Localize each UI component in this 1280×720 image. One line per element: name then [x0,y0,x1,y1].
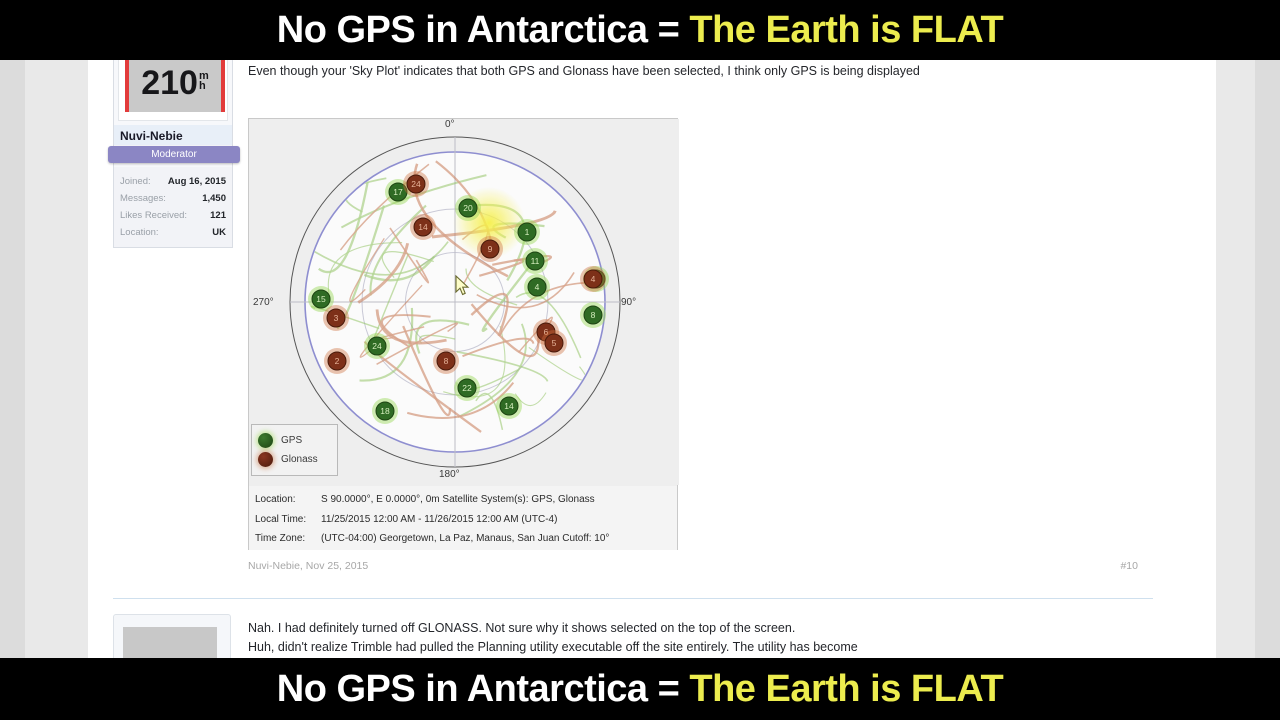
info-key: Local Time: [255,510,321,530]
banner-white-text: No GPS in Antarctica = [277,9,680,51]
info-value: (UTC-04:00) Georgetown, La Paz, Manaus, … [321,529,609,549]
svg-text:14: 14 [504,401,514,411]
legend-label: Glonass [281,454,318,465]
axis-label-north: 0° [445,119,455,130]
info-row-time-zone: Time Zone: (UTC-04:00) Georgetown, La Pa… [255,529,671,549]
avatar-speed-number: 210 [141,66,198,100]
stat-row: Likes Received: 121 [120,207,226,224]
glonass-marker-icon [258,452,273,467]
avatar[interactable]: 210 m h [118,59,228,121]
info-key: Location: [255,490,321,510]
info-row-location: Location: S 90.0000°, E 0.0000°, 0m Sate… [255,490,671,510]
post-divider [113,598,1153,599]
bottom-banner: No GPS in Antarctica = The Earth is FLAT [0,658,1280,720]
stat-row: Joined: Aug 16, 2015 [120,173,226,190]
legend-label: GPS [281,435,302,446]
sky-plot-legend: GPS Glonass [251,424,338,476]
post-body: Even though your 'Sky Plot' indicates th… [248,62,1138,81]
stat-value: 121 [210,207,226,224]
post2-body: Nah. I had definitely turned off GLONASS… [248,619,1138,657]
post-10: 210 m h Nuvi-Nebie Moderator Joine [88,58,1216,598]
screen: No GPS in Antarctica = The Earth is FLAT… [0,0,1280,720]
banner-yellow-text: The Earth is FLAT [689,668,1003,710]
info-key: Time Zone: [255,529,321,549]
svg-text:17: 17 [393,187,403,197]
info-value: S 90.0000°, E 0.0000°, 0m Satellite Syst… [321,490,595,510]
svg-text:22: 22 [462,383,472,393]
avatar-placeholder[interactable] [123,627,217,662]
banner-white-text: No GPS in Antarctica = [277,668,680,710]
post-text: Even though your 'Sky Plot' indicates th… [248,62,1138,81]
svg-text:15: 15 [316,294,326,304]
svg-text:4: 4 [535,282,540,292]
post-number[interactable]: #10 [1120,560,1138,572]
stat-label: Location: [120,224,159,241]
content-card: 210 m h Nuvi-Nebie Moderator Joine [88,58,1216,662]
mouse-cursor-icon [455,275,471,297]
svg-text:9: 9 [488,244,493,254]
axis-label-east: 90° [621,297,636,308]
avatar-speed-unit: m h [199,72,209,92]
legend-item-glonass: Glonass [258,452,337,467]
stat-label: Likes Received: [120,207,187,224]
post-footer: Nuvi-Nebie, Nov 25, 2015 #10 [248,560,1138,572]
axis-label-west: 270° [253,297,274,308]
gps-marker-icon [258,433,273,448]
post-11: Nah. I had definitely turned off GLONASS… [88,614,1216,662]
axis-label-south: 180° [439,469,460,480]
author-username[interactable]: Nuvi-Nebie [114,125,232,145]
author-role-badge: Moderator [108,146,240,163]
stat-row: Location: UK [120,224,226,241]
bottom-banner-text: No GPS in Antarctica = The Earth is FLAT [277,668,1003,711]
sky-plot-info-table: Location: S 90.0000°, E 0.0000°, 0m Sate… [249,486,677,550]
svg-text:2: 2 [335,356,340,366]
top-banner-text: No GPS in Antarctica = The Earth is FLAT [277,9,1003,52]
stat-label: Messages: [120,190,166,207]
svg-text:18: 18 [380,406,390,416]
svg-text:20: 20 [463,203,473,213]
post-author-date[interactable]: Nuvi-Nebie, Nov 25, 2015 [248,560,368,572]
post2-line-2: Huh, didn't realize Trimble had pulled t… [248,638,1138,657]
svg-text:4: 4 [591,274,596,284]
speed-limit-sign-icon: 210 m h [125,59,225,112]
svg-text:5: 5 [552,338,557,348]
svg-text:8: 8 [591,310,596,320]
info-row-local-time: Local Time: 11/25/2015 12:00 AM - 11/26/… [255,510,671,530]
stat-value: Aug 16, 2015 [168,173,226,190]
svg-text:11: 11 [531,256,540,266]
stat-label: Joined: [120,173,151,190]
post2-line-1: Nah. I had definitely turned off GLONASS… [248,619,1138,638]
info-value: 11/25/2015 12:00 AM - 11/26/2015 12:00 A… [321,510,557,530]
stat-row: Messages: 1,450 [120,190,226,207]
svg-text:8: 8 [444,356,449,366]
legend-item-gps: GPS [258,433,337,448]
page-inner: 210 m h Nuvi-Nebie Moderator Joine [25,58,1255,662]
stat-value: UK [212,224,226,241]
svg-text:14: 14 [418,222,428,232]
avatar-unit-bottom: h [199,82,209,92]
banner-yellow-text: The Earth is FLAT [689,9,1003,51]
forum-page: 210 m h Nuvi-Nebie Moderator Joine [0,58,1280,662]
svg-text:24: 24 [411,179,421,189]
svg-text:1: 1 [525,227,530,237]
stat-value: 1,450 [202,190,226,207]
top-banner: No GPS in Antarctica = The Earth is FLAT [0,0,1280,60]
post-author-box[interactable]: 210 m h Nuvi-Nebie Moderator Joine [113,58,233,248]
post2-author-box[interactable] [113,614,231,662]
author-stats: Joined: Aug 16, 2015 Messages: 1,450 Lik… [114,167,232,247]
svg-text:3: 3 [334,313,339,323]
sky-plot-figure: 17201113248152422181424149365284 0° 90° … [248,118,678,550]
svg-text:24: 24 [372,341,382,351]
